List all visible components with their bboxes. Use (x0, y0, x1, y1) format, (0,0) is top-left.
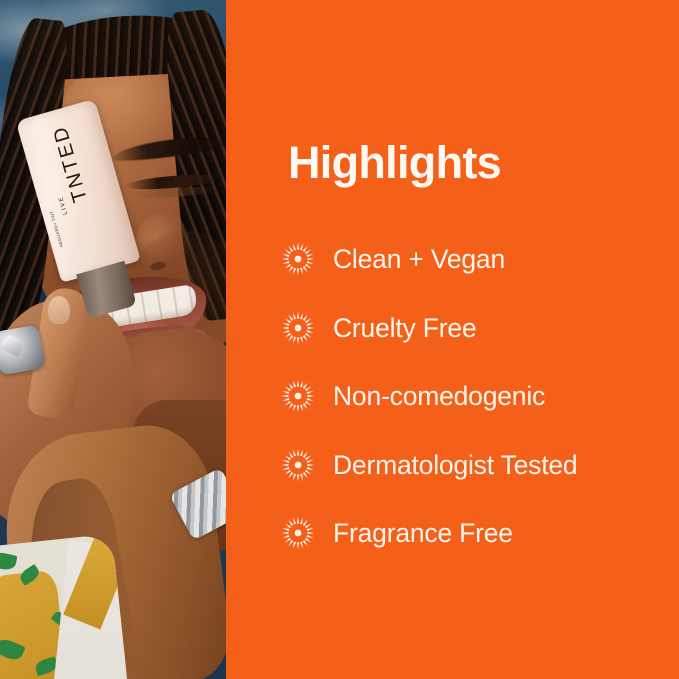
list-item-label: Non-comedogenic (333, 383, 545, 410)
list-item-label: Clean + Vegan (333, 246, 505, 273)
list-item-label: Dermatologist Tested (333, 452, 577, 479)
list-item: Cruelty Free (281, 294, 669, 363)
sunburst-icon (281, 242, 315, 276)
sunburst-icon (281, 311, 315, 345)
sunburst-icon (281, 448, 315, 482)
list-item-label: Fragrance Free (333, 520, 513, 547)
sunburst-icon (281, 516, 315, 550)
product-highlights-graphic: TNTED LIVE AEGUARD+ TINT Highlights (0, 0, 679, 679)
list-item: Fragrance Free (281, 499, 669, 568)
fingernail (48, 296, 70, 324)
list-item-label: Cruelty Free (333, 315, 476, 342)
list-item: Dermatologist Tested (281, 431, 669, 500)
patterned-shirt (0, 534, 127, 679)
highlights-panel: Highlights (226, 0, 679, 679)
list-item: Clean + Vegan (281, 225, 669, 294)
model-photo: TNTED LIVE AEGUARD+ TINT (0, 0, 226, 679)
highlights-list: Clean + Vegan (281, 225, 669, 568)
page-title: Highlights (288, 140, 501, 185)
list-item: Non-comedogenic (281, 362, 669, 431)
shirt-leaf-motif (0, 551, 17, 572)
sunburst-icon (281, 379, 315, 413)
